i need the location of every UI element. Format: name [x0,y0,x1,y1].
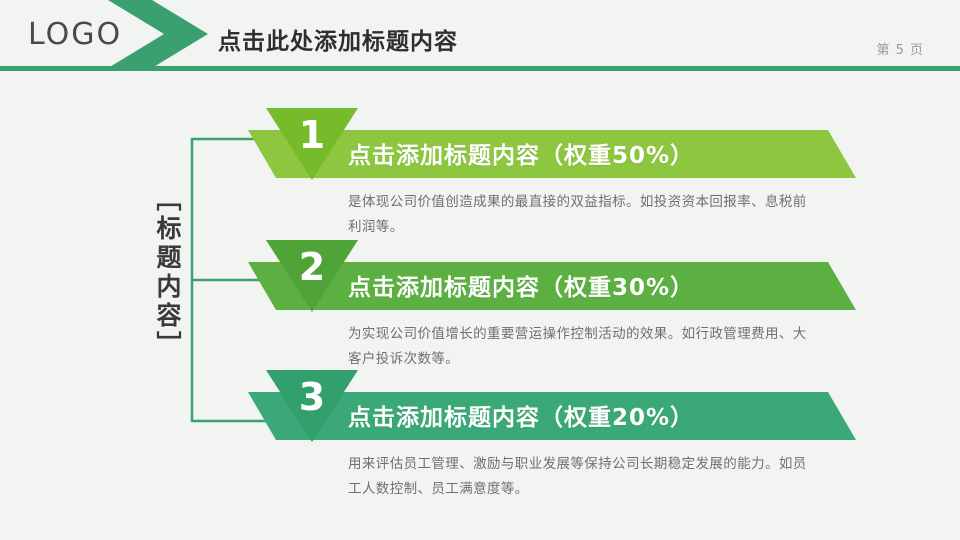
banner-title-3[interactable]: 点击添加标题内容（权重20%） [348,398,694,432]
header-divider [0,66,960,71]
banner-body-2[interactable]: 为实现公司价值增长的重要营运操作控制活动的效果。如行政管理费用、大客户投诉次数等… [348,322,818,372]
page-header: LOGO 点击此处添加标题内容 第 5 页 [0,0,960,72]
banner-body-1[interactable]: 是体现公司价值创造成果的最直接的双益指标。如投资资本回报率、息税前利润等。 [348,190,818,240]
banner-title-2[interactable]: 点击添加标题内容（权重30%） [348,268,694,302]
step-number-1: 1 [290,116,334,154]
banner-title-1[interactable]: 点击添加标题内容（权重50%） [348,136,694,170]
step-number-3: 3 [290,378,334,416]
step-number-2: 2 [290,248,334,286]
page-title: 点击此处添加标题内容 [218,22,458,56]
banner-body-3[interactable]: 用来评估员工管理、激励与职业发展等保持公司长期稳定发展的能力。如员工人数控制、员… [348,452,818,502]
page-number: 第 5 页 [876,39,924,58]
chevron-right-icon [108,0,208,68]
side-vertical-label: ［标题内容］ [140,186,180,360]
